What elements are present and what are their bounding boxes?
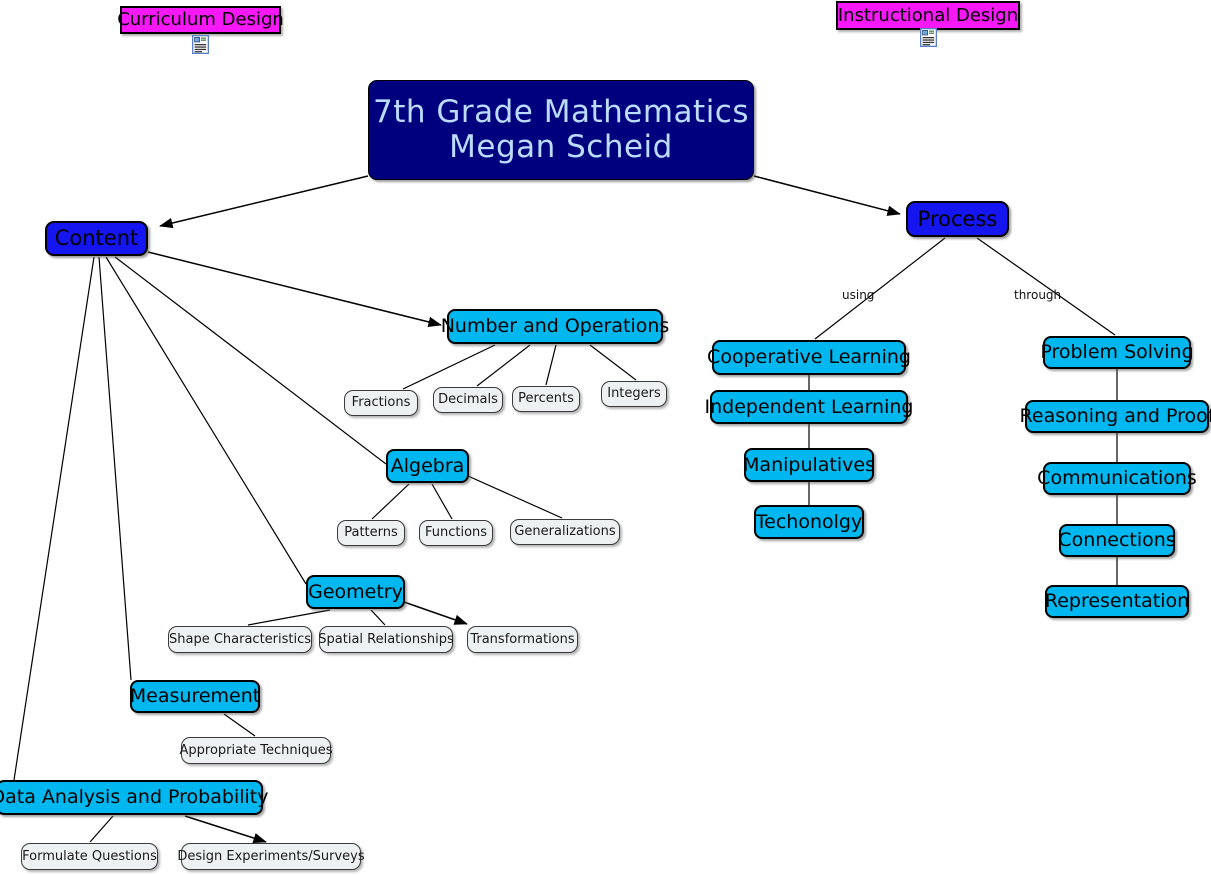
- root-node-title[interactable]: 7th Grade Mathematics Megan Scheid: [368, 80, 754, 180]
- node-cooperative-learning-label: Cooperative Learning: [707, 347, 911, 367]
- edge-geometry-to-shape: [248, 610, 330, 625]
- node-decimals[interactable]: Decimals: [433, 387, 503, 413]
- node-generalizations-label: Generalizations: [514, 525, 615, 539]
- node-patterns-label: Patterns: [344, 526, 398, 540]
- concept-map-canvas: Curriculum Design Instructional Design: [0, 0, 1211, 875]
- node-data-analysis-and-probability[interactable]: Data Analysis and Probability: [0, 780, 263, 815]
- edge-measurement-to-appropriate: [224, 714, 255, 736]
- edge-geometry-to-spatial: [371, 610, 385, 625]
- edge-content-to-geometry: [106, 257, 306, 584]
- edge-algebra-to-functions: [432, 484, 452, 519]
- node-data-analysis-and-probability-label: Data Analysis and Probability: [0, 787, 268, 807]
- edge-number-to-percents: [546, 345, 556, 385]
- document-icon-instructional[interactable]: [920, 28, 937, 47]
- node-measurement-label: Measurement: [130, 686, 260, 706]
- root-title-line2: Megan Scheid: [449, 131, 673, 164]
- node-representation[interactable]: Representation: [1045, 585, 1189, 618]
- node-transformations[interactable]: Transformations: [467, 626, 578, 653]
- node-percents-label: Percents: [518, 392, 574, 406]
- node-manipulatives[interactable]: Manipulatives: [744, 448, 874, 482]
- edge-content-to-data-analysis: [14, 257, 94, 780]
- node-number-and-operations-label: Number and Operations: [441, 316, 670, 336]
- node-algebra[interactable]: Algebra: [386, 449, 469, 483]
- node-communications[interactable]: Communications: [1043, 462, 1191, 495]
- node-spatial-relationships-label: Spatial Relationships: [318, 633, 453, 647]
- node-design-experiments-surveys-label: Design Experiments/Surveys: [177, 850, 364, 864]
- node-integers[interactable]: Integers: [601, 381, 667, 407]
- node-measurement[interactable]: Measurement: [130, 680, 260, 713]
- edge-process-to-cooperative: [815, 238, 945, 339]
- node-techonolgy-label: Techonolgy: [756, 512, 862, 532]
- node-independent-learning[interactable]: Independent Learning: [710, 390, 908, 424]
- node-process[interactable]: Process: [906, 201, 1009, 237]
- node-connections[interactable]: Connections: [1059, 524, 1175, 557]
- node-percents[interactable]: Percents: [512, 386, 580, 412]
- node-geometry-label: Geometry: [308, 582, 403, 602]
- edge-algebra-to-generalizations: [468, 476, 562, 518]
- edge-content-to-algebra: [115, 257, 386, 464]
- node-techonolgy[interactable]: Techonolgy: [754, 505, 864, 539]
- node-reasoning-and-proof-label: Reasoning and Proof: [1020, 406, 1211, 426]
- edge-root-to-content: [160, 176, 368, 226]
- node-appropriate-techniques[interactable]: Appropriate Techniques: [181, 737, 331, 764]
- node-content[interactable]: Content: [45, 221, 148, 256]
- node-integers-label: Integers: [607, 387, 661, 401]
- node-decimals-label: Decimals: [438, 393, 498, 407]
- node-representation-label: Representation: [1045, 591, 1189, 611]
- node-content-label: Content: [55, 227, 139, 249]
- edge-content-to-measurement: [99, 257, 131, 680]
- node-spatial-relationships[interactable]: Spatial Relationships: [319, 626, 453, 653]
- edge-number-to-decimals: [477, 345, 530, 386]
- node-shape-characteristics[interactable]: Shape Characteristics: [168, 626, 312, 653]
- node-number-and-operations[interactable]: Number and Operations: [447, 309, 663, 344]
- edge-number-to-fractions: [403, 345, 495, 389]
- node-manipulatives-label: Manipulatives: [743, 455, 875, 475]
- node-patterns[interactable]: Patterns: [337, 520, 405, 546]
- node-cooperative-learning[interactable]: Cooperative Learning: [712, 340, 906, 375]
- edge-number-to-integers: [590, 345, 636, 380]
- tag-instructional-design[interactable]: Instructional Design: [836, 1, 1020, 30]
- node-formulate-questions-label: Formulate Questions: [22, 850, 157, 864]
- edge-process-to-problem-solving: [977, 238, 1115, 335]
- node-geometry[interactable]: Geometry: [306, 575, 405, 609]
- node-independent-learning-label: Independent Learning: [705, 397, 914, 417]
- edge-root-to-process: [754, 176, 900, 214]
- node-functions-label: Functions: [425, 526, 487, 540]
- node-design-experiments-surveys[interactable]: Design Experiments/Surveys: [181, 843, 361, 870]
- root-title-line1: 7th Grade Mathematics: [373, 96, 749, 129]
- node-algebra-label: Algebra: [391, 456, 465, 476]
- tag-instructional-design-label: Instructional Design: [838, 6, 1018, 25]
- node-communications-label: Communications: [1037, 468, 1197, 488]
- node-formulate-questions[interactable]: Formulate Questions: [21, 843, 158, 870]
- node-problem-solving[interactable]: Problem Solving: [1043, 336, 1191, 369]
- node-transformations-label: Transformations: [470, 633, 574, 647]
- node-connections-label: Connections: [1058, 530, 1175, 550]
- tag-curriculum-design-label: Curriculum Design: [117, 10, 284, 29]
- edge-algebra-to-patterns: [372, 484, 409, 519]
- edge-data-to-design: [185, 816, 266, 842]
- node-process-label: Process: [918, 208, 998, 230]
- node-fractions-label: Fractions: [352, 396, 411, 410]
- edge-geometry-to-transformations: [404, 602, 467, 624]
- node-generalizations[interactable]: Generalizations: [510, 519, 620, 545]
- edge-label-using: using: [842, 288, 874, 302]
- node-fractions[interactable]: Fractions: [344, 390, 418, 416]
- document-icon-curriculum[interactable]: [192, 35, 209, 54]
- edge-content-to-number: [148, 252, 441, 325]
- node-reasoning-and-proof[interactable]: Reasoning and Proof: [1025, 400, 1209, 433]
- node-functions[interactable]: Functions: [419, 520, 493, 546]
- node-shape-characteristics-label: Shape Characteristics: [169, 633, 311, 647]
- tag-curriculum-design[interactable]: Curriculum Design: [120, 6, 281, 34]
- edge-label-through: through: [1014, 288, 1061, 302]
- node-problem-solving-label: Problem Solving: [1040, 342, 1193, 362]
- node-appropriate-techniques-label: Appropriate Techniques: [179, 744, 332, 758]
- edge-data-to-formulate: [90, 816, 113, 842]
